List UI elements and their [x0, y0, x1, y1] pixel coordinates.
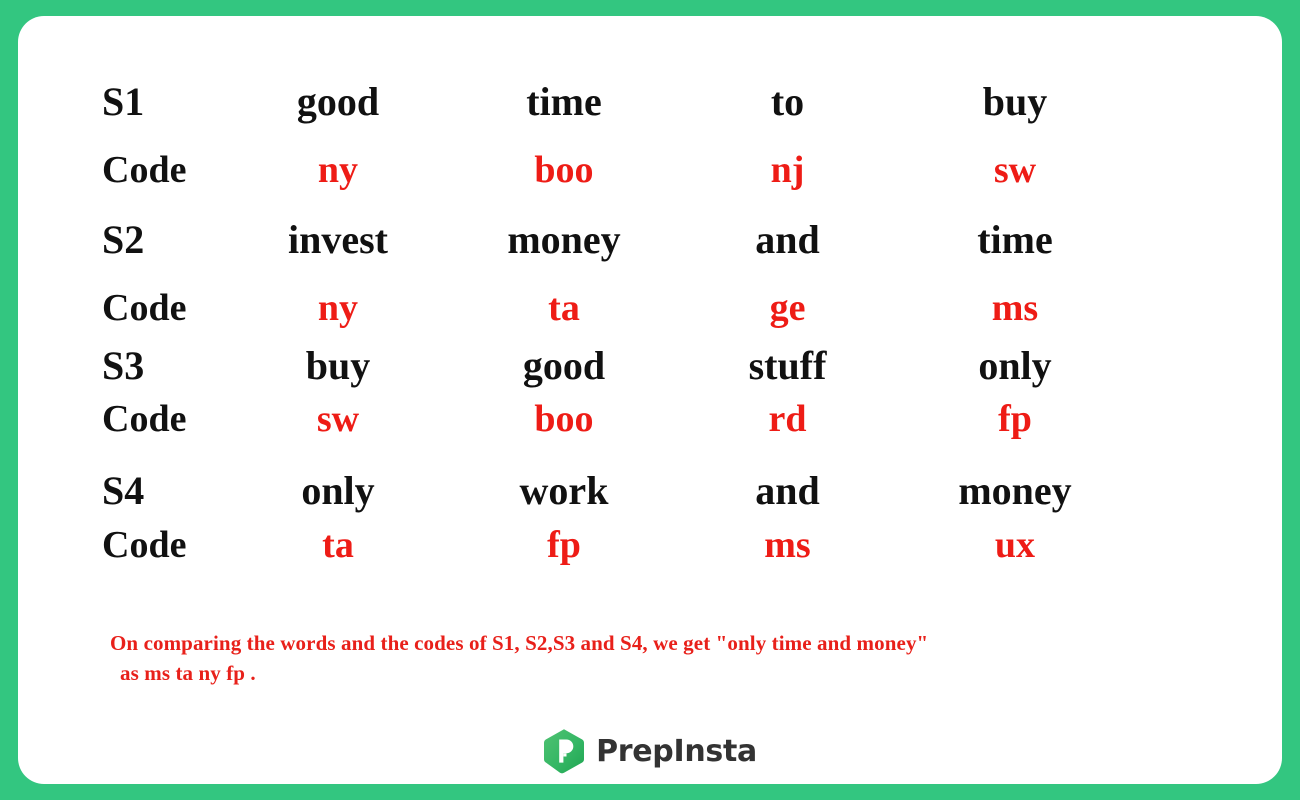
table-cell: sw — [228, 397, 448, 441]
row-label: Code — [18, 286, 228, 330]
table-cell: time — [895, 216, 1135, 263]
coding-decoding-table: S1 good time to buy Code ny boo nj sw S2… — [18, 78, 1282, 579]
table-cell: ny — [228, 148, 448, 192]
table-cell: fp — [448, 523, 680, 567]
table-cell: only — [895, 342, 1135, 389]
table-row: Code sw boo rd fp — [18, 397, 1282, 467]
table-cell: rd — [680, 397, 895, 441]
table-cell: good — [448, 342, 680, 389]
table-cell: ms — [895, 286, 1135, 330]
table-row: Code ta fp ms ux — [18, 523, 1282, 579]
table-row: S4 only work and money — [18, 467, 1282, 523]
table-cell: and — [680, 216, 895, 263]
row-label: S4 — [18, 467, 228, 514]
table-cell: ux — [895, 523, 1135, 567]
table-cell: ge — [680, 286, 895, 330]
row-label: S2 — [18, 216, 228, 263]
logo-wordmark: PrepInsta — [596, 734, 757, 769]
table-cell: buy — [228, 342, 448, 389]
table-cell: buy — [895, 78, 1135, 125]
table-cell: money — [448, 216, 680, 263]
explanation-line-2: as ms ta ny fp . — [110, 658, 1230, 688]
row-label: Code — [18, 523, 228, 567]
row-label: Code — [18, 397, 228, 441]
explanation-text: On comparing the words and the codes of … — [110, 628, 1230, 688]
table-cell: ta — [228, 523, 448, 567]
row-label: S1 — [18, 78, 228, 125]
table-row: S1 good time to buy — [18, 78, 1282, 148]
content-card: S1 good time to buy Code ny boo nj sw S2… — [18, 16, 1282, 784]
table-cell: boo — [448, 397, 680, 441]
table-cell: to — [680, 78, 895, 125]
row-label: S3 — [18, 342, 228, 389]
table-cell: ny — [228, 286, 448, 330]
table-cell: and — [680, 467, 895, 514]
prepinsta-logo: PrepInsta — [18, 728, 1282, 774]
table-cell: stuff — [680, 342, 895, 389]
prepinsta-hexagon-p-icon — [543, 728, 585, 774]
table-cell: fp — [895, 397, 1135, 441]
table-cell: invest — [228, 216, 448, 263]
explanation-line-1: On comparing the words and the codes of … — [110, 631, 928, 655]
table-cell: nj — [680, 148, 895, 192]
table-row: Code ny ta ge ms — [18, 286, 1282, 342]
table-cell: work — [448, 467, 680, 514]
table-cell: sw — [895, 148, 1135, 192]
table-cell: ms — [680, 523, 895, 567]
table-cell: only — [228, 467, 448, 514]
table-row: S3 buy good stuff only — [18, 342, 1282, 397]
table-cell: time — [448, 78, 680, 125]
table-cell: boo — [448, 148, 680, 192]
table-cell: ta — [448, 286, 680, 330]
table-row: Code ny boo nj sw — [18, 148, 1282, 216]
table-cell: good — [228, 78, 448, 125]
table-cell: money — [895, 467, 1135, 514]
row-label: Code — [18, 148, 228, 192]
table-row: S2 invest money and time — [18, 216, 1282, 286]
